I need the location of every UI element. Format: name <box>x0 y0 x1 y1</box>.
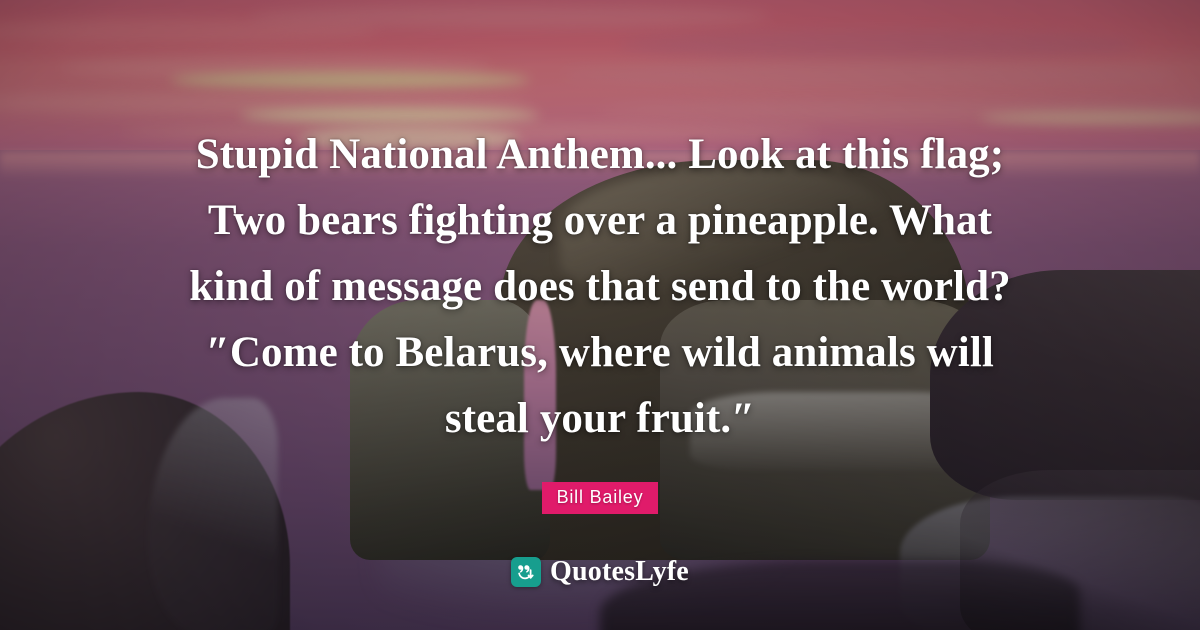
quote-card: Stupid National Anthem... Look at this f… <box>0 0 1200 630</box>
quote-content: Stupid National Anthem... Look at this f… <box>0 0 1200 630</box>
author-badge: Bill Bailey <box>542 482 659 514</box>
quote-text: Stupid National Anthem... Look at this f… <box>170 122 1030 452</box>
